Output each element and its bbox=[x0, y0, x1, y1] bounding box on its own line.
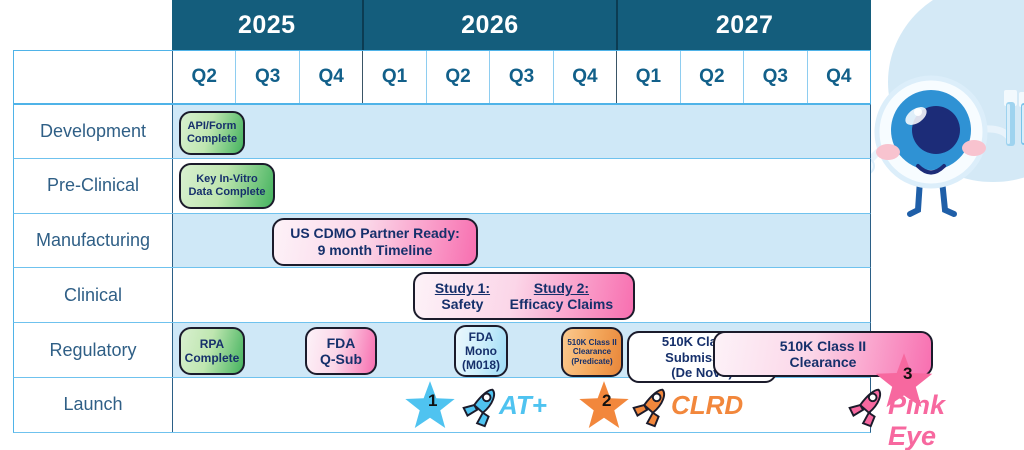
row-track: US CDMO Partner Ready:9 month Timeline bbox=[173, 214, 870, 268]
milestone-clinical-studies[interactable]: Study 1:SafetyStudy 2:Efficacy Claims bbox=[413, 272, 635, 320]
roadmap-canvas: 202520262027 Q2Q3Q4Q1Q2Q3Q4Q1Q2Q3Q4 Deve… bbox=[0, 0, 1024, 450]
milestone-column-text: Safety bbox=[441, 296, 483, 313]
roadmap-row-clinical: ClinicalStudy 1:SafetyStudy 2:Efficacy C… bbox=[13, 268, 871, 323]
header-corner-cell bbox=[14, 51, 173, 103]
row-track: Key In-VitroData Complete bbox=[173, 159, 870, 213]
row-band bbox=[173, 159, 870, 213]
rocket-icon bbox=[625, 382, 673, 430]
roadmap-row-development: DevelopmentAPI/FormComplete bbox=[13, 104, 871, 159]
row-label-development[interactable]: Development bbox=[14, 105, 173, 158]
roadmap-row-regulatory: RegulatoryRPACompleteFDAQ-SubFDAMono(M01… bbox=[13, 323, 871, 378]
row-track: Study 1:SafetyStudy 2:Efficacy Claims bbox=[173, 268, 870, 322]
quarter-header-cell[interactable]: Q1 bbox=[363, 51, 426, 103]
quarter-header-cell[interactable]: Q3 bbox=[490, 51, 553, 103]
launch-label-at-[interactable]: AT+ bbox=[499, 390, 547, 421]
row-label-regulatory[interactable]: Regulatory bbox=[14, 323, 173, 377]
quarter-header-cell[interactable]: Q3 bbox=[744, 51, 807, 103]
roadmap-table: 202520262027 Q2Q3Q4Q1Q2Q3Q4Q1Q2Q3Q4 Deve… bbox=[13, 0, 871, 433]
milestone-line: Key In-Vitro bbox=[196, 173, 258, 186]
milestone-api-form-complete[interactable]: API/FormComplete bbox=[179, 111, 245, 155]
roadmap-row-pre-clinical: Pre-ClinicalKey In-VitroData Complete bbox=[13, 159, 871, 214]
row-label-clinical[interactable]: Clinical bbox=[14, 268, 173, 322]
row-track: API/FormComplete bbox=[173, 105, 870, 158]
milestone-line: API/Form bbox=[188, 120, 237, 133]
year-header-row: 202520262027 bbox=[172, 0, 871, 50]
milestone-line: Data Complete bbox=[188, 186, 265, 199]
milestone-line: FDA bbox=[327, 335, 356, 352]
row-track: 1AT+2CLRD3Pink Eye bbox=[173, 378, 870, 432]
milestone-key-in-vitro[interactable]: Key In-VitroData Complete bbox=[179, 163, 275, 209]
row-label-manufacturing[interactable]: Manufacturing bbox=[14, 214, 173, 268]
quarter-header-cell[interactable]: Q3 bbox=[236, 51, 299, 103]
launch-rocket-3[interactable] bbox=[841, 382, 889, 430]
milestone-line: Clearance bbox=[790, 354, 857, 371]
launch-label-pink-eye[interactable]: Pink Eye bbox=[888, 390, 945, 450]
milestone-rpa-complete[interactable]: RPAComplete bbox=[179, 327, 245, 375]
quarter-header-row: Q2Q3Q4Q1Q2Q3Q4Q1Q2Q3Q4 bbox=[13, 50, 871, 104]
roadmap-row-manufacturing: ManufacturingUS CDMO Partner Ready:9 mon… bbox=[13, 214, 871, 269]
rocket-icon bbox=[841, 382, 889, 430]
launch-number-1: 1 bbox=[428, 391, 437, 411]
milestone-line: Complete bbox=[185, 351, 240, 365]
row-label-pre-clinical[interactable]: Pre-Clinical bbox=[14, 159, 173, 213]
year-header-2025: 2025 bbox=[172, 0, 364, 50]
roadmap-body: DevelopmentAPI/FormCompletePre-ClinicalK… bbox=[13, 104, 871, 433]
launch-label-clrd[interactable]: CLRD bbox=[671, 390, 743, 421]
milestone-column: Study 2:Efficacy Claims bbox=[510, 280, 614, 313]
milestone-line: RPA bbox=[200, 337, 224, 351]
milestone-line: Q-Sub bbox=[320, 351, 362, 368]
milestone-fda-mono[interactable]: FDAMono(M018) bbox=[454, 325, 508, 377]
row-track: RPACompleteFDAQ-SubFDAMono(M018)510K Cla… bbox=[173, 323, 870, 377]
milestone-line: Mono bbox=[465, 344, 497, 358]
milestone-line: (Predicate) bbox=[571, 357, 612, 366]
quarter-header-cell[interactable]: Q4 bbox=[808, 51, 870, 103]
milestone-column: Study 1:Safety bbox=[435, 280, 490, 313]
milestone-line: 510K Class II bbox=[567, 338, 616, 347]
year-header-2027: 2027 bbox=[618, 0, 871, 50]
quarter-header-cell[interactable]: Q2 bbox=[173, 51, 236, 103]
eyeball-mascot-icon bbox=[856, 68, 1024, 218]
milestone-column-text: Efficacy Claims bbox=[510, 296, 614, 313]
milestone-column-heading: Study 2: bbox=[534, 280, 589, 297]
launch-number-2: 2 bbox=[602, 391, 611, 411]
milestone-fda-qsub[interactable]: FDAQ-Sub bbox=[305, 327, 377, 375]
year-header-2026: 2026 bbox=[364, 0, 619, 50]
quarter-header-cell[interactable]: Q4 bbox=[300, 51, 363, 103]
milestone-line: 510K Class II bbox=[780, 338, 866, 355]
quarter-header-cell[interactable]: Q4 bbox=[554, 51, 617, 103]
row-band bbox=[173, 105, 870, 158]
milestone-line: FDA bbox=[469, 330, 494, 344]
launch-rocket-1[interactable] bbox=[455, 382, 503, 430]
milestone-510k-predicate[interactable]: 510K Class IIClearance(Predicate) bbox=[561, 327, 623, 377]
quarter-header-cell[interactable]: Q2 bbox=[681, 51, 744, 103]
launch-rocket-2[interactable] bbox=[625, 382, 673, 430]
milestone-line: 9 month Timeline bbox=[318, 242, 433, 259]
quarter-header-cell[interactable]: Q2 bbox=[427, 51, 490, 103]
milestone-line: Complete bbox=[187, 133, 237, 146]
milestone-line: (M018) bbox=[462, 358, 500, 372]
row-label-launch[interactable]: Launch bbox=[14, 378, 173, 432]
roadmap-row-launch: Launch1AT+2CLRD3Pink Eye bbox=[13, 378, 871, 433]
milestone-line: Clearance bbox=[573, 347, 611, 356]
rocket-icon bbox=[455, 382, 503, 430]
launch-number-3: 3 bbox=[903, 364, 912, 384]
quarter-header-cell[interactable]: Q1 bbox=[617, 51, 680, 103]
milestone-column-heading: Study 1: bbox=[435, 280, 490, 297]
milestone-us-cdmo-partner[interactable]: US CDMO Partner Ready:9 month Timeline bbox=[272, 218, 478, 266]
milestone-line: US CDMO Partner Ready: bbox=[290, 225, 460, 242]
